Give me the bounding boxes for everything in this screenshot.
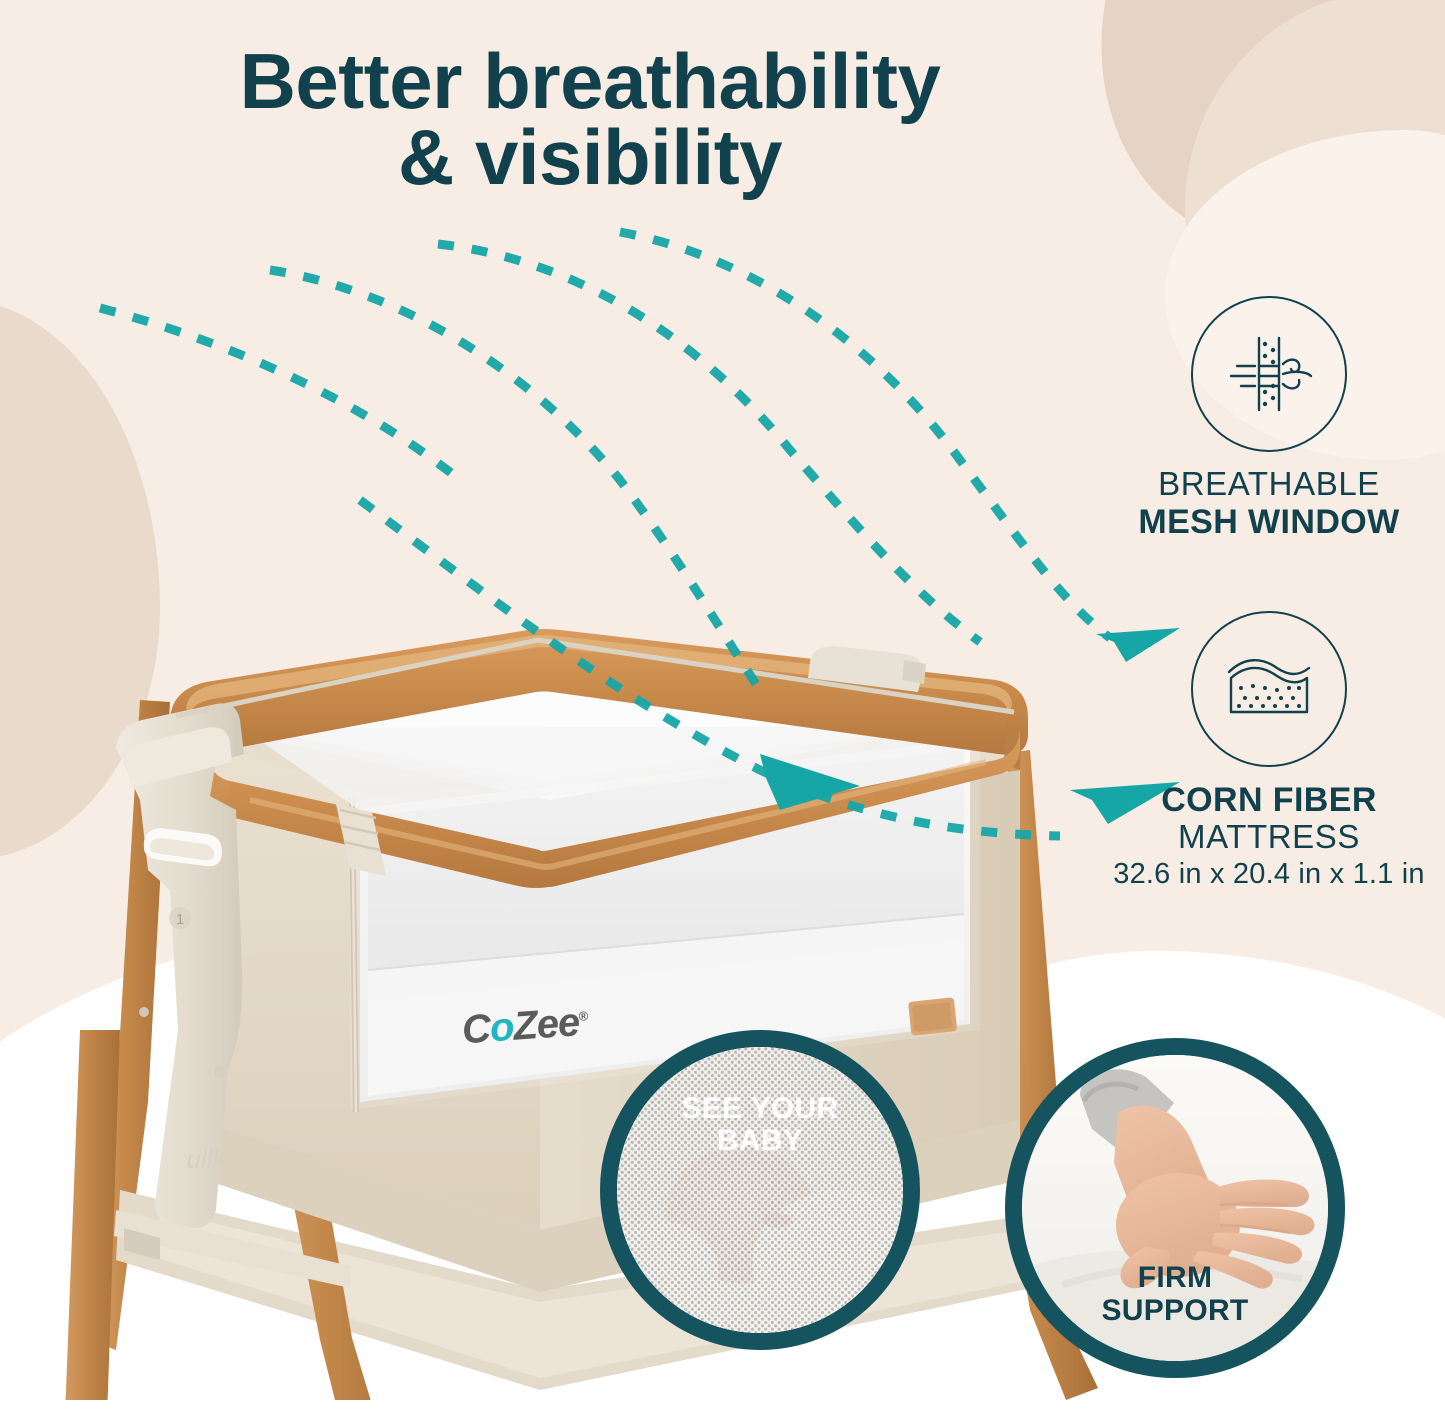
registered-mark-icon: ®	[578, 1008, 588, 1024]
cozee-logo-text: CoZee	[461, 1000, 581, 1052]
feature-label-line1: CORN FIBER	[1099, 781, 1439, 819]
mesh-airflow-icon	[1191, 296, 1347, 452]
feature-icon-wrap	[1099, 296, 1439, 452]
product-infographic: Better breathability & visibility	[0, 0, 1445, 1411]
page-title: Better breathability & visibility	[0, 44, 1180, 195]
mattress-layer-icon	[1191, 611, 1347, 767]
feature-list: BREATHABLE MESH WINDOW	[1099, 296, 1439, 897]
cozee-brand-logo: CoZee®	[461, 1000, 590, 1054]
feature-icon-wrap	[1099, 611, 1439, 767]
svg-text:ullk: ullk	[186, 1144, 227, 1174]
inset-label-see-your-baby: SEE YOUR BABY	[617, 1093, 903, 1158]
inset-firm-support: FIRM SUPPORT	[1005, 1038, 1345, 1378]
feature-label-line1: BREATHABLE	[1099, 466, 1439, 503]
feature-breathable-mesh-window: BREATHABLE MESH WINDOW	[1099, 296, 1439, 541]
feature-corn-fiber-mattress: CORN FIBER MATTRESS 32.6 in x 20.4 in x …	[1099, 611, 1439, 891]
feature-label-line2: MATTRESS	[1099, 819, 1439, 856]
inset-label-firm-support: FIRM SUPPORT	[1022, 1262, 1328, 1327]
inset-see-your-baby: SEE YOUR BABY	[600, 1030, 920, 1350]
feature-label-line2: MESH WINDOW	[1099, 503, 1439, 541]
photo-baby-through-mesh	[617, 1047, 903, 1333]
svg-text:1: 1	[176, 911, 184, 928]
feature-spacer	[1099, 547, 1439, 611]
product-image-bassinet: 1 ullk	[20, 330, 1110, 1400]
mattress-dimensions: 32.6 in x 20.4 in x 1.1 in	[1099, 858, 1439, 891]
cozee-logo-o: o	[488, 1005, 515, 1052]
